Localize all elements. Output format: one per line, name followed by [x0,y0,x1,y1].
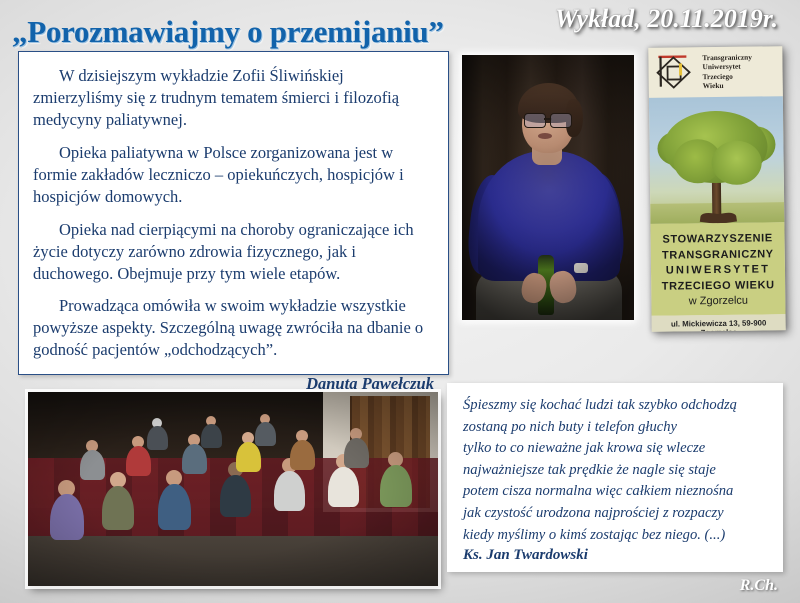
poster-title-block: STOWARZYSZENIE TRANSGRANICZNY UNIWERSYTE… [650,222,785,316]
poem-line: jak czystość urodzona najprościej z rozp… [463,503,769,525]
poem-line: najważniejsze tak prędkie że nagle się s… [463,460,769,482]
slide-canvas: „Porozmawiajmy o przemijaniu” Wykład, 20… [0,0,800,603]
page-title: „Porozmawiajmy o przemijaniu” [12,14,444,50]
poster-org-line: Wieku [703,81,753,91]
article-text-box: W dzisiejszym wykładzie Zofii Śliwińskie… [18,51,449,375]
audience-photo-vignette [28,392,438,586]
speaker-photo [462,55,634,320]
poster-title-line: UNIWERSYTET [655,262,781,279]
poster-title-line: STOWARZYSZENIE [655,231,781,248]
poem-line: potem cisza normalna więc całkiem niezno… [463,481,769,503]
poster-subtitle: w Zgorzelcu [655,295,781,309]
poster-address: ul. Mickiewicza 13, 59-900 Zgorzelec [652,315,786,332]
poem-line: Śpieszmy się kochać ludzi tak szybko odc… [463,395,769,417]
poster-title-line: TRZECIEGO WIEKU [655,278,781,295]
speaker-photo-vignette [462,55,634,320]
poem-line: tylko to co nieważne jak krowa się wlecz… [463,438,769,460]
article-paragraph: Prowadząca omówiła w swoim wykładzie wsz… [33,295,434,361]
audience-photo [28,392,438,586]
poem-line: kiedy myślimy o kimś zostając bez niego.… [463,525,769,547]
author-credit: R.Ch. [740,577,778,595]
poster-org-name: Transgraniczny Uniwersytet Trzeciego Wie… [702,53,752,91]
tree-canopy [711,140,762,185]
tutw-logo-icon [654,52,696,93]
poster-header: Transgraniczny Uniwersytet Trzeciego Wie… [648,46,783,98]
poster-title-line: TRANSGRANICZNY [655,247,781,264]
lecture-date: Wykład, 20.11.2019r. [555,4,778,34]
poster-org-line: Transgraniczny [702,53,752,63]
poster-tree-image [649,96,785,224]
article-paragraph: W dzisiejszym wykładzie Zofii Śliwińskie… [33,65,434,131]
poem-box: Śpieszmy się kochać ludzi tak szybko odc… [447,383,783,572]
association-poster: Transgraniczny Uniwersytet Trzeciego Wie… [648,46,785,332]
article-paragraph: Opieka paliatywna w Polsce zorganizowana… [33,142,434,208]
poem-author: Ks. Jan Twardowski [463,547,769,564]
article-paragraph: Opieka nad cierpiącymi na choroby ograni… [33,219,434,285]
poem-line: zostaną po nich buty i telefon głuchy [463,417,769,439]
